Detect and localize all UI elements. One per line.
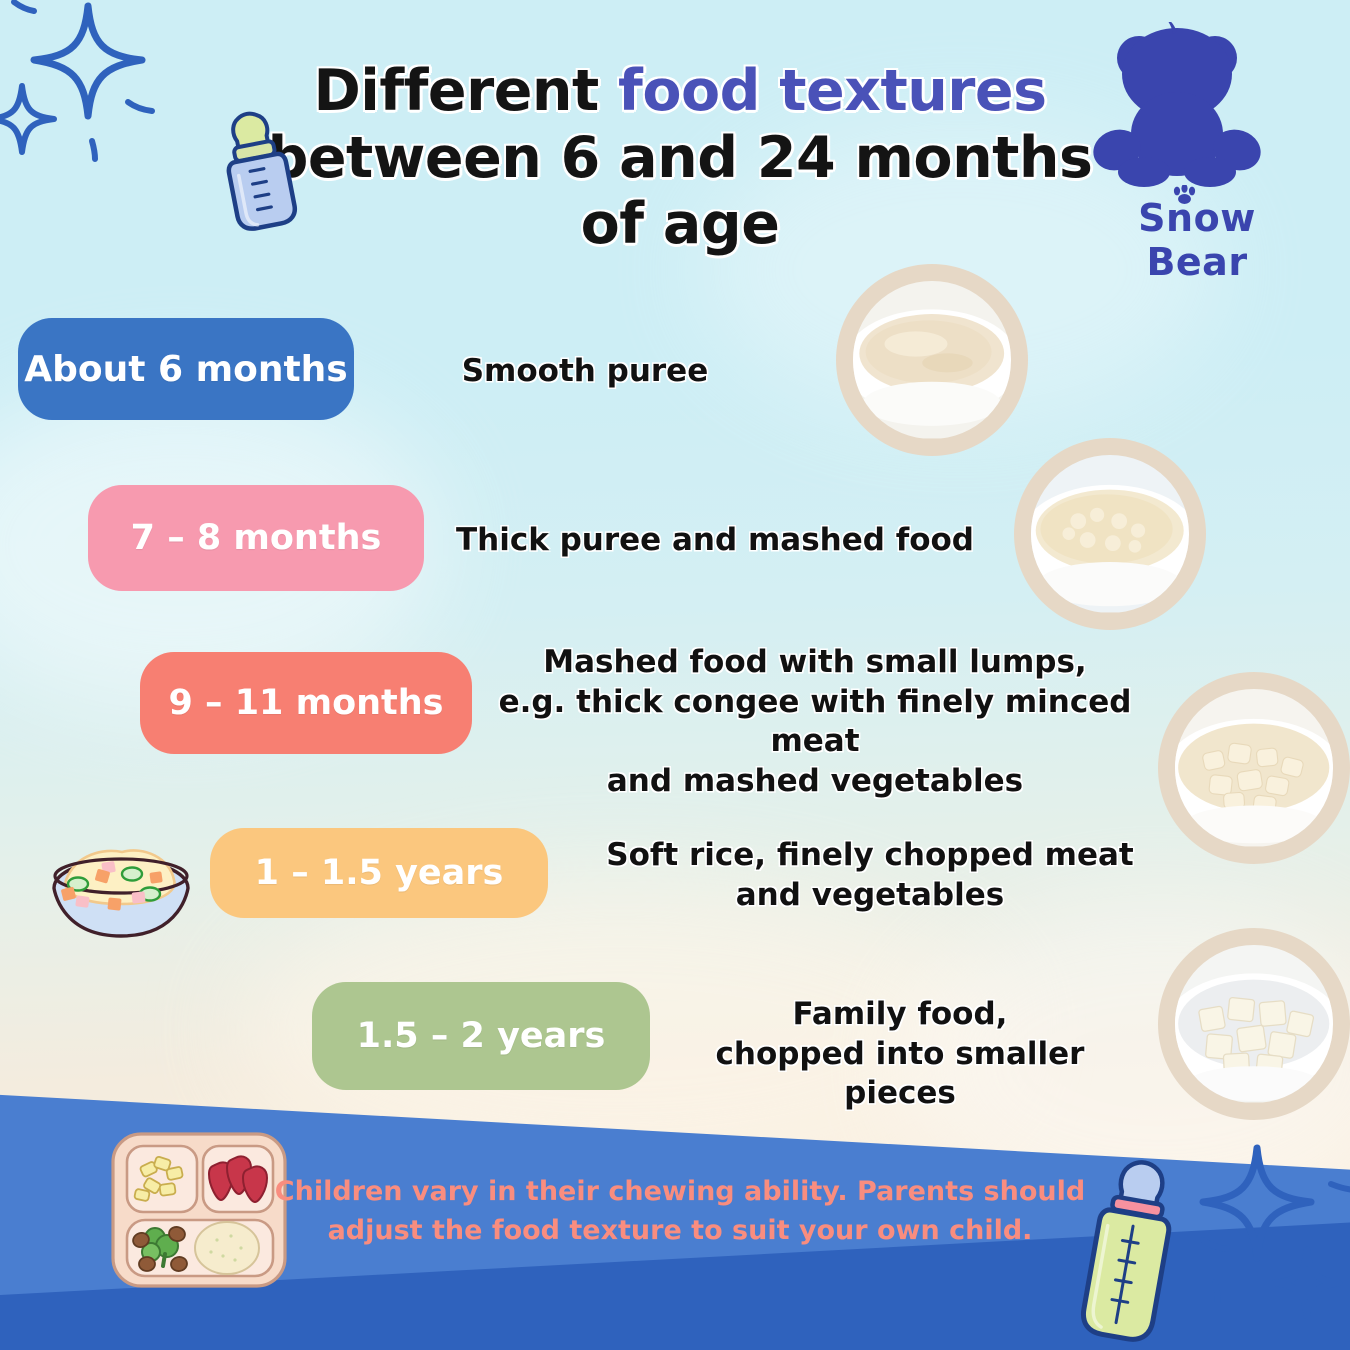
sparkle-star-icon (0, 0, 210, 176)
title-line-1: Different food textures (250, 58, 1110, 125)
badge-7-8-months[interactable]: 7 – 8 months (88, 485, 424, 591)
title-part-plain: Different (313, 58, 618, 124)
description-line: and vegetables (585, 876, 1155, 916)
photo-inner (853, 281, 1010, 438)
badge-9-11-months[interactable]: 9 – 11 months (140, 652, 472, 754)
bowl-of-tofu-cubes-photo (1175, 945, 1332, 1102)
rice-bowl-illustration-icon (32, 832, 210, 950)
description-line: Family food, (655, 995, 1145, 1035)
title-part-highlight: food textures (618, 58, 1046, 124)
footer-note: Children vary in their chewing ability. … (255, 1172, 1105, 1250)
title-line-2: between 6 and 24 months (250, 125, 1110, 192)
photo-soft-rice (1158, 928, 1350, 1120)
brand-name-text: Snow Bear (1138, 196, 1256, 284)
footer-note-line: Children vary in their chewing ability. … (255, 1172, 1105, 1211)
bowl-of-thick-puree-photo (1031, 455, 1188, 612)
description-line: Mashed food with small lumps, (455, 643, 1175, 683)
infographic-poster: Different food textures between 6 and 24… (0, 0, 1350, 1350)
description-line: Soft rice, finely chopped meat (585, 836, 1155, 876)
brand-name: Snow Bear (1082, 196, 1312, 284)
description-row-4: Soft rice, finely chopped meat and veget… (585, 836, 1155, 915)
description-line: e.g. thick congee with finely minced mea… (455, 683, 1175, 762)
photo-inner (1175, 689, 1332, 846)
bowl-of-smooth-puree-photo (853, 281, 1010, 438)
description-row-3: Mashed food with small lumps, e.g. thick… (455, 643, 1175, 802)
title-line-3: of age (250, 191, 1110, 258)
photo-inner (1175, 945, 1332, 1102)
description-line: chopped into smaller pieces (655, 1035, 1145, 1114)
badge-1-1point5-years[interactable]: 1 – 1.5 years (210, 828, 548, 918)
photo-thick-puree (1014, 438, 1206, 630)
badge-1point5-2-years[interactable]: 1.5 – 2 years (312, 982, 650, 1090)
bowl-of-lumpy-congee-photo (1175, 689, 1332, 846)
photo-smooth-puree (836, 264, 1028, 456)
page-title: Different food textures between 6 and 24… (250, 58, 1110, 258)
paw-print-icon (1170, 185, 1200, 205)
photo-inner (1031, 455, 1188, 612)
badge-about-6-months[interactable]: About 6 months (18, 318, 354, 420)
photo-lumpy-congee (1158, 672, 1350, 864)
description-line: and mashed vegetables (455, 762, 1175, 802)
bear-silhouette-icon (1082, 22, 1272, 202)
description-row-1: Smooth puree (385, 352, 785, 392)
brand-logo: Snow Bear (1082, 22, 1312, 284)
description-row-2: Thick puree and mashed food (420, 521, 1010, 561)
footer-note-line: adjust the food texture to suit your own… (255, 1211, 1105, 1250)
description-row-5: Family food, chopped into smaller pieces (655, 995, 1145, 1114)
